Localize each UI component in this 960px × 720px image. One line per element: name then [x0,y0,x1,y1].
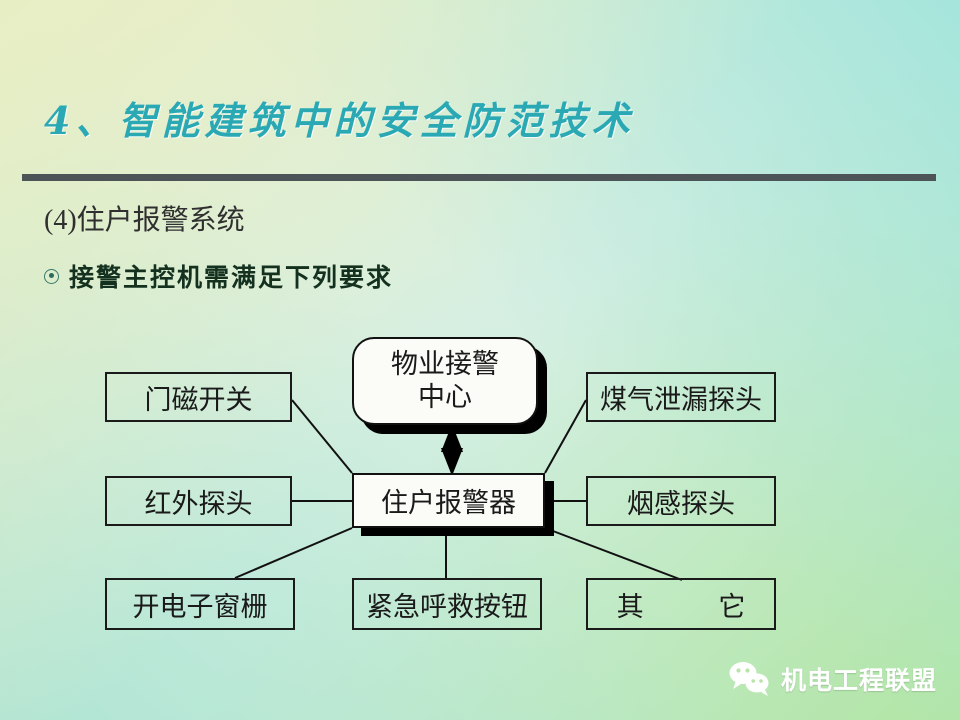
node-door-magnetic-switch[interactable]: 门磁开关 [105,372,292,422]
node-label: 其 它 [583,585,780,624]
node-resident-alarm-unit[interactable]: 住户报警器 [352,473,545,528]
node-electronic-window-grille[interactable]: 开电子窗栅 [105,578,295,630]
node-emergency-call-button[interactable]: 紧急呼救按钮 [352,578,542,630]
node-label: 门磁开关 [145,378,253,417]
node-infrared-detector[interactable]: 红外探头 [105,476,292,526]
node-label: 开电子窗栅 [133,585,268,624]
node-other[interactable]: 其 它 [586,578,776,630]
node-label-line2: 中心 [418,381,472,414]
footer-brand-label: 机电工程联盟 [781,661,937,697]
alarm-system-diagram: 物业接警 中心 住户报警器 门磁开关 煤气泄漏探头 红外探头 烟感探头 开电子窗… [0,0,960,720]
node-label: 煤气泄漏探头 [600,378,762,417]
node-label-line1: 物业接警 [391,348,499,381]
node-label: 住户报警器 [381,481,516,520]
node-gas-leak-detector[interactable]: 煤气泄漏探头 [586,372,776,422]
node-smoke-detector[interactable]: 烟感探头 [586,476,776,526]
footer-brand: 机电工程联盟 [728,660,937,698]
wechat-icon [728,660,772,698]
node-label: 紧急呼救按钮 [366,585,528,624]
slide-canvas: 4、智能建筑中的安全防范技术 (4)住户报警系统 接警主控机需满足下列要求 [0,0,960,720]
node-label: 红外探头 [145,482,253,521]
node-label: 烟感探头 [627,482,735,521]
node-property-alarm-center[interactable]: 物业接警 中心 [352,337,538,425]
